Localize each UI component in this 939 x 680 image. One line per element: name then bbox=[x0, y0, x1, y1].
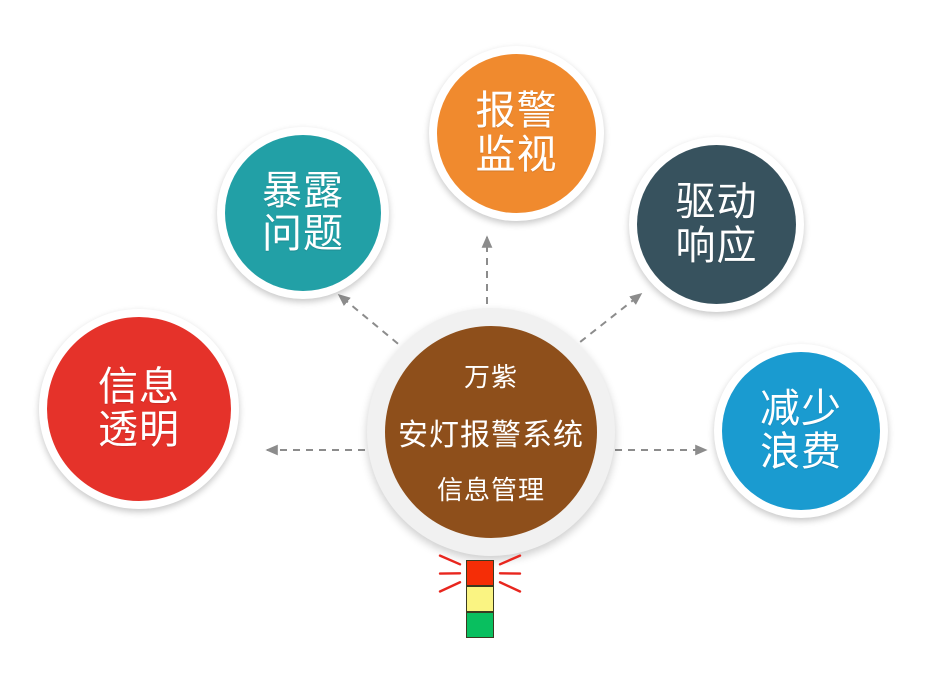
center-hub-line-1: 万紫 bbox=[464, 357, 518, 394]
bubble-disc-alarm-monitor: 报警 监视 bbox=[437, 54, 596, 213]
andon-flash-ray-5 bbox=[500, 582, 520, 591]
bubble-disc-expose-problems: 暴露 问题 bbox=[225, 135, 381, 291]
bubble-alarm-monitor[interactable]: 报警 监视 bbox=[429, 46, 604, 221]
andon-lamp-green bbox=[466, 612, 494, 638]
center-hub-line-2: 安灯报警系统 bbox=[398, 410, 584, 454]
arrow-to-expose-problems bbox=[339, 295, 408, 352]
bubble-label-alarm-monitor: 报警 监视 bbox=[476, 90, 558, 176]
bubble-label-information-transparency: 信息 透明 bbox=[98, 366, 180, 452]
arrow-to-drive-response bbox=[570, 294, 641, 350]
andon-flash-ray-3 bbox=[500, 556, 520, 565]
bubble-information-transparency[interactable]: 信息 透明 bbox=[39, 309, 239, 509]
bubble-expose-problems[interactable]: 暴露 问题 bbox=[217, 127, 389, 299]
andon-lamp-yellow bbox=[466, 586, 494, 612]
bubble-disc-drive-response: 驱动 响应 bbox=[637, 145, 796, 304]
bubble-label-expose-problems: 暴露 问题 bbox=[262, 170, 344, 256]
andon-flash-ray-2 bbox=[440, 582, 460, 591]
center-hub[interactable]: 万紫 安灯报警系统 信息管理 bbox=[367, 308, 615, 556]
andon-lamp-red bbox=[466, 560, 494, 586]
diagram-canvas: 万紫 安灯报警系统 信息管理 报警 监视暴露 问题驱动 响应信息 透明减少 浪费 bbox=[0, 0, 939, 680]
bubble-disc-information-transparency: 信息 透明 bbox=[47, 317, 231, 501]
center-hub-line-3: 信息管理 bbox=[437, 470, 545, 507]
bubble-drive-response[interactable]: 驱动 响应 bbox=[629, 137, 804, 312]
bubble-disc-reduce-waste: 减少 浪费 bbox=[722, 352, 880, 510]
andon-flash-ray-0 bbox=[440, 556, 460, 565]
andon-light-tower bbox=[434, 544, 526, 654]
bubble-label-drive-response: 驱动 响应 bbox=[676, 181, 758, 267]
bubble-reduce-waste[interactable]: 减少 浪费 bbox=[714, 344, 888, 518]
bubble-label-reduce-waste: 减少 浪费 bbox=[760, 388, 842, 474]
center-hub-disc: 万紫 安灯报警系统 信息管理 bbox=[385, 326, 597, 538]
